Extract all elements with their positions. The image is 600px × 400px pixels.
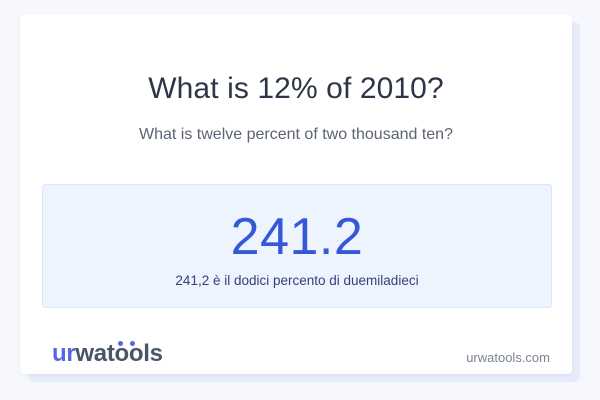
page-subtitle: What is twelve percent of two thousand t… — [20, 126, 572, 144]
brand-logo-ls: ls — [143, 340, 162, 367]
brand-logo-oo: oo — [115, 342, 144, 366]
result-card: What is 12% of 2010? What is twelve perc… — [20, 14, 572, 374]
brand-logo-at: at — [94, 340, 115, 367]
brand-logo-text: urwatools — [52, 342, 163, 366]
site-url: urwatools.com — [466, 350, 550, 365]
brand-logo-w: w — [75, 340, 93, 367]
brand-logo-ur: ur — [52, 340, 75, 367]
result-caption: 241,2 è il dodici percento di duemiladie… — [43, 273, 551, 288]
brand-logo[interactable]: urwatools — [52, 339, 163, 369]
brand-logo-dot-icon — [118, 341, 123, 346]
brand-logo-dot2-icon — [130, 341, 135, 346]
page-title: What is 12% of 2010? — [20, 72, 572, 106]
result-value: 241.2 — [43, 207, 551, 267]
page-root: What is 12% of 2010? What is twelve perc… — [0, 0, 600, 400]
result-box: 241.2 241,2 è il dodici percento di duem… — [42, 184, 552, 308]
